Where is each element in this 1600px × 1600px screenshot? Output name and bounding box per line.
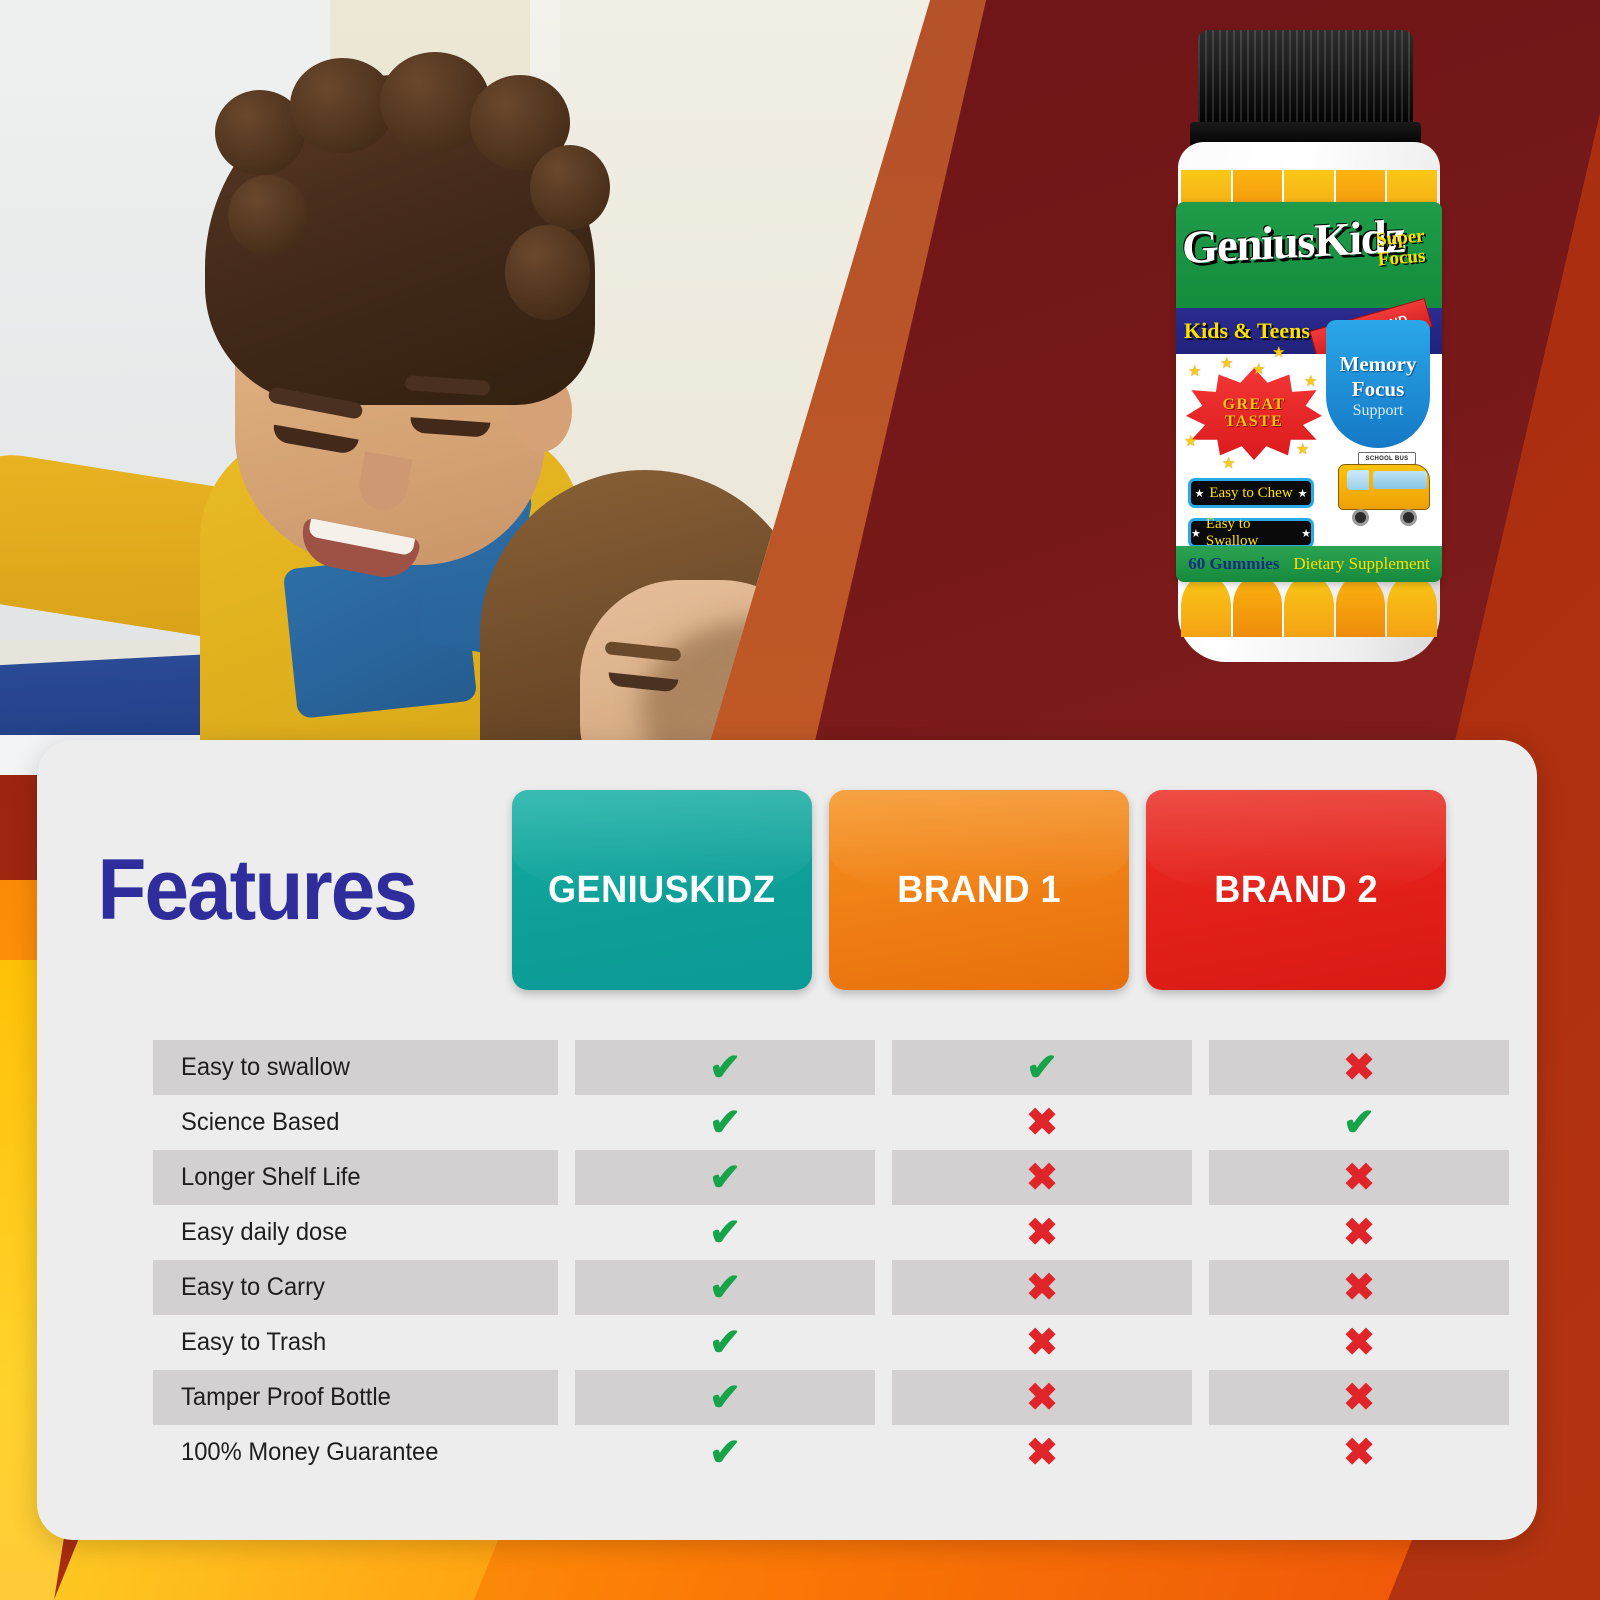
column-header-geniuskidz[interactable]: GENIUSKIDZ xyxy=(512,790,812,990)
row-gap xyxy=(558,1040,575,1095)
label-memory-focus-shield: Memory Focus Support xyxy=(1326,320,1430,448)
cross-icon: ✖ xyxy=(1343,1269,1375,1307)
bottle-cap xyxy=(1198,30,1413,130)
table-row: Tamper Proof Bottle✔✖✖ xyxy=(37,1370,1537,1425)
cross-icon: ✖ xyxy=(1343,1379,1375,1417)
value-cell-brand-2: ✖ xyxy=(1209,1205,1509,1260)
cross-icon: ✖ xyxy=(1026,1104,1058,1142)
row-left-spacer xyxy=(37,1150,95,1205)
star-icon: ★ xyxy=(1301,527,1311,540)
column-header-label: BRAND 1 xyxy=(897,869,1061,912)
star-icon: ★ xyxy=(1298,487,1308,500)
value-cell-brand-2: ✖ xyxy=(1209,1260,1509,1315)
label-gummy-count: 60 Gummies xyxy=(1188,554,1279,574)
value-cell-brand-1: ✖ xyxy=(892,1260,1192,1315)
value-cell-brand-1: ✖ xyxy=(892,1205,1192,1260)
feature-label: Easy daily dose xyxy=(181,1218,347,1247)
feature-label: Easy to swallow xyxy=(181,1053,350,1082)
row-gap xyxy=(558,1205,575,1260)
star-icon: ★ xyxy=(1188,362,1201,380)
table-row: Easy daily dose✔✖✖ xyxy=(37,1205,1537,1260)
table-row: 100% Money Guarantee✔✖✖ xyxy=(37,1425,1537,1480)
value-cell-geniuskidz: ✔ xyxy=(575,1095,875,1150)
feature-cell: Longer Shelf Life xyxy=(153,1150,558,1205)
feature-cell: Tamper Proof Bottle xyxy=(153,1370,558,1425)
photo-boy-curl xyxy=(530,145,610,230)
label-tagline: Super Focus xyxy=(1375,225,1438,270)
burst-line-1: GREAT xyxy=(1223,397,1286,414)
value-cell-brand-2: ✖ xyxy=(1209,1370,1509,1425)
row-left-spacer xyxy=(37,1425,95,1480)
star-icon: ★ xyxy=(1184,432,1197,450)
row-left-spacer xyxy=(37,1095,95,1150)
star-icon: ★ xyxy=(1252,360,1265,378)
column-header-brand-1[interactable]: BRAND 1 xyxy=(829,790,1129,990)
cross-icon: ✖ xyxy=(1026,1269,1058,1307)
feature-cell: Easy to swallow xyxy=(153,1040,558,1095)
badge-swallow-text: Easy to Swallow xyxy=(1206,516,1296,550)
row-gap xyxy=(558,1370,575,1425)
check-icon: ✔ xyxy=(1026,1049,1058,1087)
comparison-table-card: Features GENIUSKIDZ BRAND 1 BRAND 2 Easy… xyxy=(37,740,1537,1540)
check-icon: ✔ xyxy=(709,1214,741,1252)
table-row: Longer Shelf Life✔✖✖ xyxy=(37,1150,1537,1205)
gummies-bottom xyxy=(1180,575,1438,637)
row-left-spacer xyxy=(37,1205,95,1260)
row-gap xyxy=(558,1315,575,1370)
check-icon: ✔ xyxy=(1343,1104,1375,1142)
value-cell-brand-1: ✖ xyxy=(892,1315,1192,1370)
feature-cell: Science Based xyxy=(153,1095,558,1150)
value-cell-geniuskidz: ✔ xyxy=(575,1260,875,1315)
column-header-label: GENIUSKIDZ xyxy=(548,869,775,912)
star-icon: ★ xyxy=(1194,487,1204,500)
value-cell-brand-2: ✔ xyxy=(1209,1095,1509,1150)
row-left-spacer xyxy=(37,1040,95,1095)
value-cell-brand-2: ✖ xyxy=(1209,1315,1509,1370)
value-cell-geniuskidz: ✔ xyxy=(575,1150,875,1205)
badge-easy-to-chew: ★ Easy to Chew ★ xyxy=(1188,478,1314,508)
column-header-label: BRAND 2 xyxy=(1214,869,1378,912)
cross-icon: ✖ xyxy=(1343,1214,1375,1252)
label-brand-name: GeniusKidz xyxy=(1182,211,1382,275)
check-icon: ✔ xyxy=(709,1159,741,1197)
value-cell-brand-1: ✖ xyxy=(892,1150,1192,1205)
cross-icon: ✖ xyxy=(1343,1434,1375,1472)
cross-icon: ✖ xyxy=(1026,1214,1058,1252)
cross-icon: ✖ xyxy=(1026,1324,1058,1362)
feature-label: Science Based xyxy=(181,1108,339,1137)
cross-icon: ✖ xyxy=(1026,1434,1058,1472)
photo-boy-curl xyxy=(228,175,308,255)
bus-windshield xyxy=(1347,470,1369,490)
label-audience: Kids & Teens xyxy=(1184,318,1310,344)
burst-line-2: TASTE xyxy=(1225,414,1283,431)
value-cell-geniuskidz: ✔ xyxy=(575,1315,875,1370)
check-icon: ✔ xyxy=(709,1269,741,1307)
table-header-row: Features GENIUSKIDZ BRAND 1 BRAND 2 xyxy=(37,740,1537,1040)
shield-line-2: Focus xyxy=(1352,377,1405,402)
photo-boy-curl xyxy=(505,225,590,320)
row-left-spacer xyxy=(37,1370,95,1425)
table-row: Easy to swallow✔✔✖ xyxy=(37,1040,1537,1095)
bus-wheel xyxy=(1400,509,1417,526)
feature-cell: 100% Money Guarantee xyxy=(153,1425,558,1480)
feature-label: Easy to Carry xyxy=(181,1273,325,1302)
value-cell-geniuskidz: ✔ xyxy=(575,1425,875,1480)
value-cell-brand-1: ✔ xyxy=(892,1040,1192,1095)
value-cell-brand-1: ✖ xyxy=(892,1095,1192,1150)
row-left-spacer xyxy=(37,1260,95,1315)
check-icon: ✔ xyxy=(709,1324,741,1362)
feature-cell: Easy to Trash xyxy=(153,1315,558,1370)
cross-icon: ✖ xyxy=(1343,1159,1375,1197)
star-icon: ★ xyxy=(1296,440,1309,458)
badge-easy-to-swallow: ★ Easy to Swallow ★ xyxy=(1188,518,1314,548)
bus-body xyxy=(1338,464,1430,510)
feature-label: Tamper Proof Bottle xyxy=(181,1383,391,1412)
table-row: Science Based✔✖✔ xyxy=(37,1095,1537,1150)
bottle-label: GeniusKidz Super Focus Kids & Teens TOP … xyxy=(1176,202,1442,582)
value-cell-brand-2: ✖ xyxy=(1209,1425,1509,1480)
cross-icon: ✖ xyxy=(1026,1379,1058,1417)
table-row: Easy to Carry✔✖✖ xyxy=(37,1260,1537,1315)
row-gap xyxy=(558,1150,575,1205)
value-cell-geniuskidz: ✔ xyxy=(575,1370,875,1425)
shield-line-1: Memory xyxy=(1340,352,1417,377)
check-icon: ✔ xyxy=(709,1104,741,1142)
school-bus-icon: SCHOOL BUS xyxy=(1334,452,1434,524)
badge-chew-text: Easy to Chew xyxy=(1209,485,1292,502)
star-icon: ★ xyxy=(1304,372,1317,390)
check-icon: ✔ xyxy=(709,1434,741,1472)
feature-cell: Easy to Carry xyxy=(153,1260,558,1315)
star-icon: ★ xyxy=(1272,343,1285,361)
value-cell-brand-2: ✖ xyxy=(1209,1150,1509,1205)
cross-icon: ✖ xyxy=(1343,1324,1375,1362)
feature-label: 100% Money Guarantee xyxy=(181,1438,438,1467)
star-icon: ★ xyxy=(1191,527,1201,540)
page-title: Features xyxy=(37,841,479,940)
feature-cell: Easy daily dose xyxy=(153,1205,558,1260)
bus-windows xyxy=(1373,471,1427,489)
row-gap xyxy=(558,1260,575,1315)
cross-icon: ✖ xyxy=(1343,1049,1375,1087)
product-bottle: GeniusKidz Super Focus Kids & Teens TOP … xyxy=(1128,30,1488,670)
star-icon: ★ xyxy=(1220,354,1233,372)
check-icon: ✔ xyxy=(709,1049,741,1087)
shield-line-3: Support xyxy=(1353,402,1404,420)
label-supplement-text: Dietary Supplement xyxy=(1293,554,1429,574)
value-cell-geniuskidz: ✔ xyxy=(575,1205,875,1260)
cross-icon: ✖ xyxy=(1026,1159,1058,1197)
value-cell-brand-1: ✖ xyxy=(892,1425,1192,1480)
table-body: Easy to swallow✔✔✖Science Based✔✖✔Longer… xyxy=(37,1040,1537,1480)
star-icon: ★ xyxy=(1222,454,1235,472)
value-cell-brand-1: ✖ xyxy=(892,1370,1192,1425)
feature-label: Longer Shelf Life xyxy=(181,1163,361,1192)
value-cell-geniuskidz: ✔ xyxy=(575,1040,875,1095)
label-bottom-band: 60 Gummies Dietary Supplement xyxy=(1176,546,1442,582)
check-icon: ✔ xyxy=(709,1379,741,1417)
feature-label: Easy to Trash xyxy=(181,1328,326,1357)
column-header-brand-2[interactable]: BRAND 2 xyxy=(1146,790,1446,990)
row-left-spacer xyxy=(37,1315,95,1370)
bus-wheel xyxy=(1352,509,1369,526)
row-gap xyxy=(558,1425,575,1480)
table-row: Easy to Trash✔✖✖ xyxy=(37,1315,1537,1370)
row-gap xyxy=(558,1095,575,1150)
value-cell-brand-2: ✖ xyxy=(1209,1040,1509,1095)
